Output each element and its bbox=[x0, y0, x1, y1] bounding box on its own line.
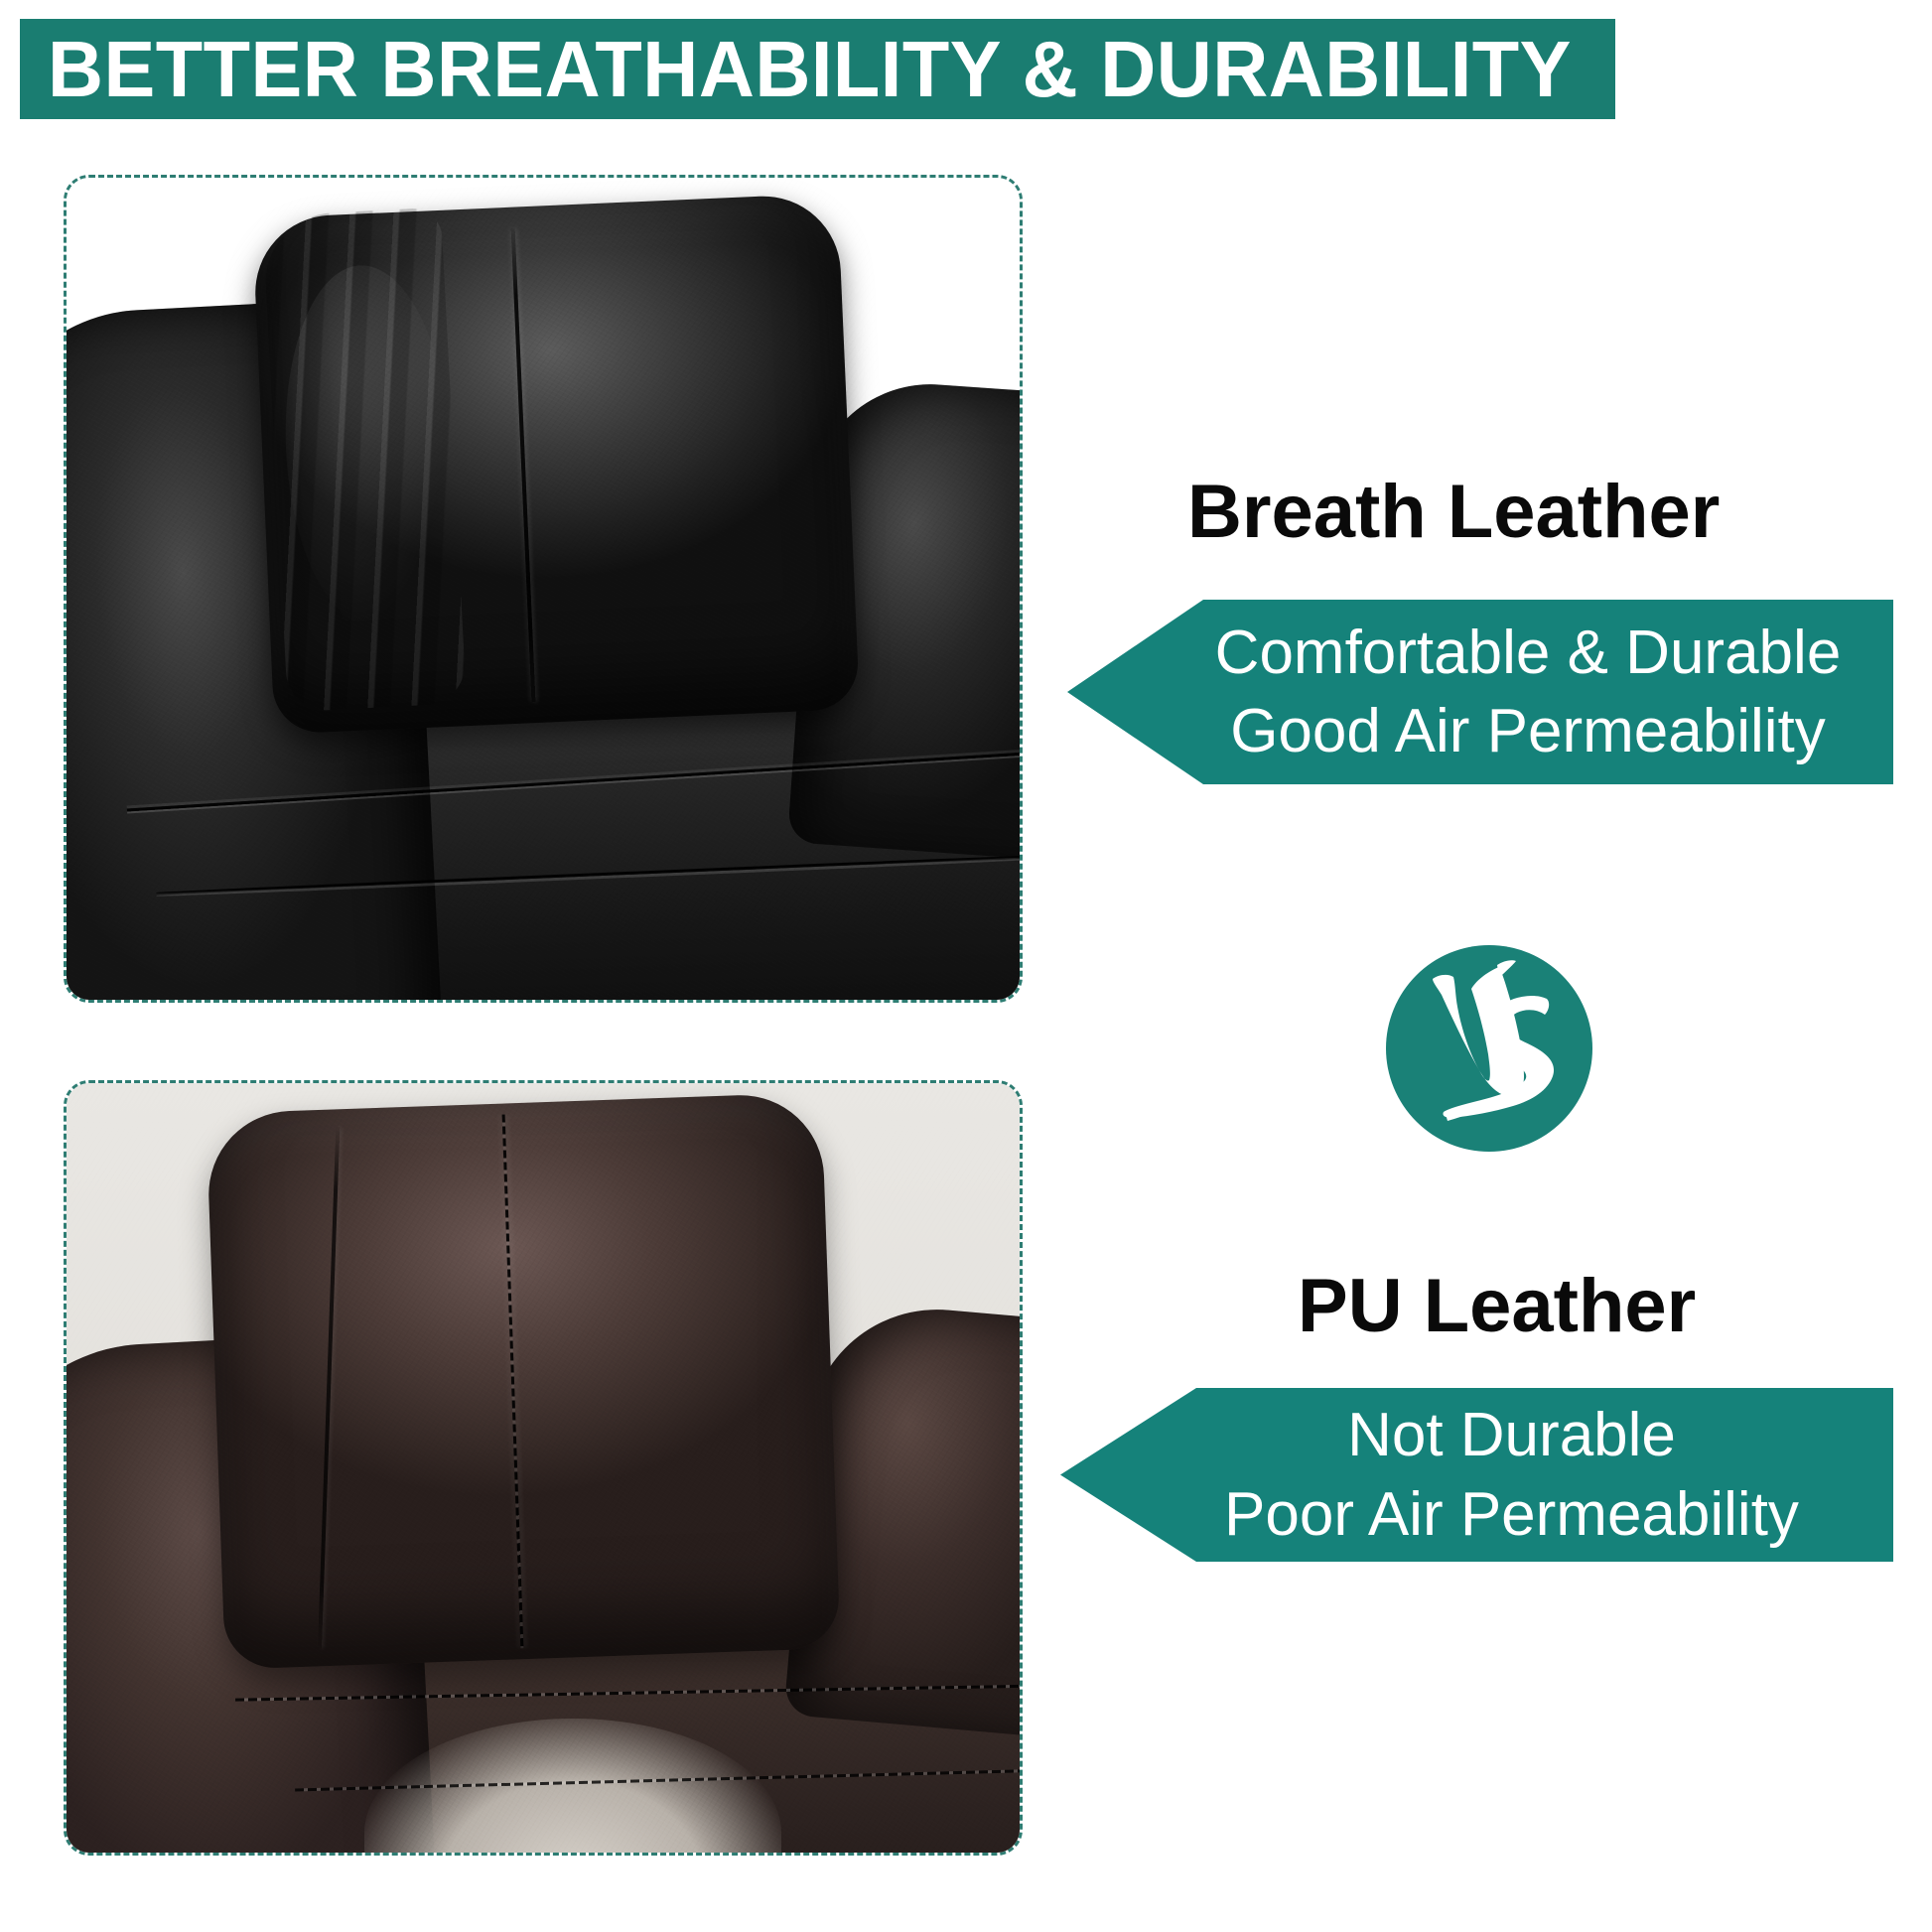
breath-leather-photo bbox=[64, 175, 1023, 1003]
breath-leather-callout: Comfortable & Durable Good Air Permeabil… bbox=[1067, 600, 1893, 784]
header-banner: BETTER BREATHABILITY & DURABILITY bbox=[20, 19, 1615, 119]
breath-leather-heading: Breath Leather bbox=[1187, 475, 1720, 550]
vs-brushstroke-glyph bbox=[1386, 945, 1592, 1152]
pu-leather-heading: PU Leather bbox=[1298, 1269, 1696, 1344]
breath-leather-photo-content bbox=[67, 178, 1020, 1000]
pu-leather-callout-line-2: Poor Air Permeability bbox=[1224, 1475, 1799, 1554]
pu-leather-photo-content bbox=[67, 1083, 1020, 1853]
breath-leather-callout-line-1: Comfortable & Durable bbox=[1215, 614, 1842, 692]
breath-leather-callout-line-2: Good Air Permeability bbox=[1230, 692, 1826, 770]
brown-leather-grain-texture bbox=[67, 1083, 1020, 1853]
pu-leather-callout-line-1: Not Durable bbox=[1347, 1396, 1676, 1474]
pu-leather-callout: Not Durable Poor Air Permeability bbox=[1060, 1388, 1893, 1562]
black-leather-grain-texture bbox=[67, 178, 1020, 1000]
vs-badge-icon bbox=[1386, 945, 1592, 1152]
page-title: BETTER BREATHABILITY & DURABILITY bbox=[48, 30, 1572, 109]
pu-leather-photo bbox=[64, 1080, 1023, 1856]
double-chevron-down-icon bbox=[1632, 49, 1672, 109]
